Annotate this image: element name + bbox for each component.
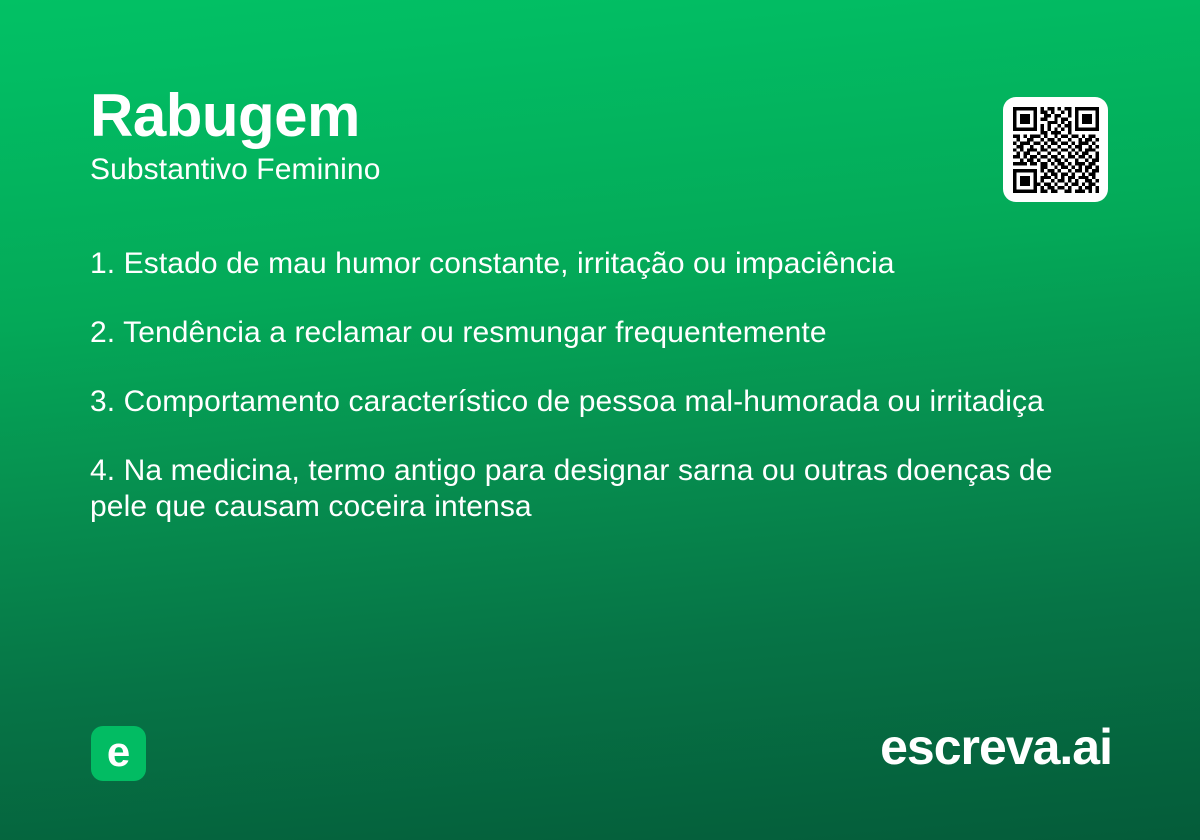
dictionary-card: Rabugem Substantivo Feminino 1. Estado d… (0, 0, 1200, 840)
definition-item: 2. Tendência a reclamar ou resmungar fre… (90, 315, 1080, 351)
definition-list: 1. Estado de mau humor constante, irrita… (90, 246, 1080, 525)
definition-item: 4. Na medicina, termo antigo para design… (90, 453, 1080, 525)
definition-item: 3. Comportamento característico de pesso… (90, 384, 1080, 420)
part-of-speech-label: Substantivo Feminino (90, 152, 950, 188)
brand-logo-letter: e (91, 726, 146, 781)
qr-code-panel[interactable] (1003, 97, 1108, 202)
page-title: Rabugem (90, 84, 950, 148)
definition-item: 1. Estado de mau humor constante, irrita… (90, 246, 1080, 282)
brand-logo-badge[interactable]: e (91, 726, 146, 781)
qr-code-icon (1013, 107, 1099, 193)
headline-block: Rabugem Substantivo Feminino (90, 84, 950, 188)
brand-wordmark: escreva.ai (880, 722, 1112, 772)
